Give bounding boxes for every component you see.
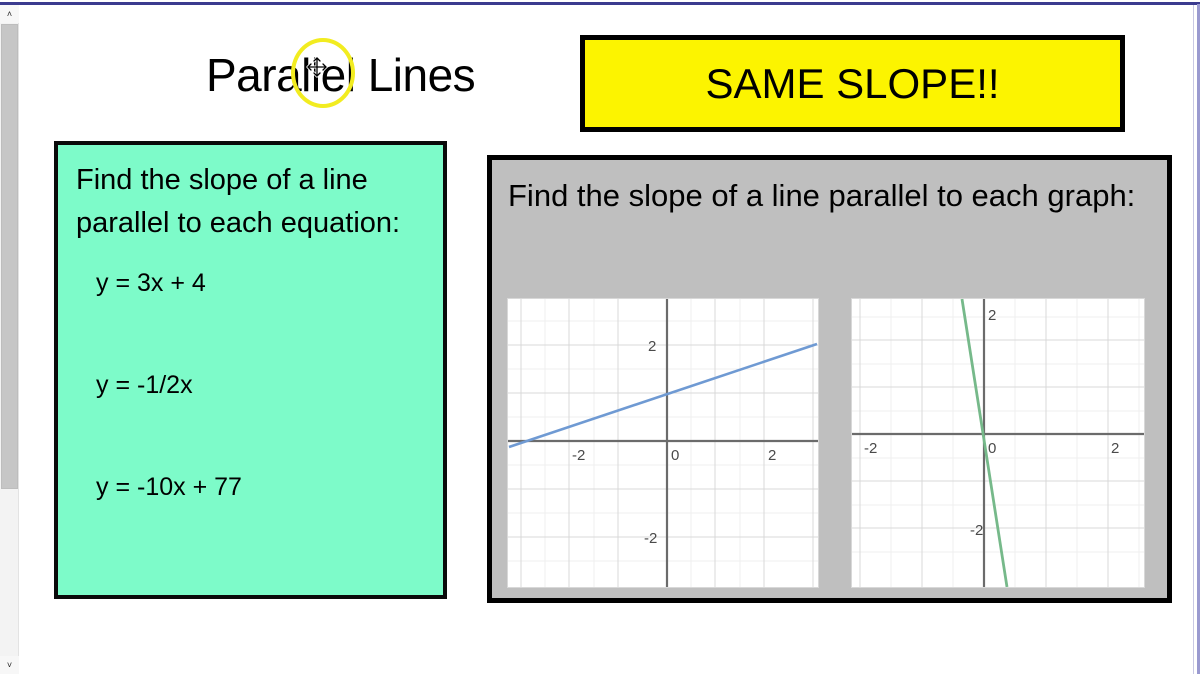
graphs-panel: Find the slope of a line parallel to eac… — [487, 155, 1172, 603]
equations-prompt: Find the slope of a line parallel to eac… — [76, 159, 425, 245]
ytick-2: 2 — [648, 338, 656, 355]
xtick-0: 0 — [671, 447, 679, 464]
graph-row: -2 0 2 2 -2 — [508, 299, 1144, 587]
equation-list: y = 3x + 4 y = -1/2x y = -10x + 77 — [76, 269, 425, 502]
graph-blue-line: -2 0 2 2 -2 — [508, 299, 818, 587]
graph-blue-svg: -2 0 2 2 -2 — [508, 299, 818, 587]
graphs-prompt: Find the slope of a line parallel to eac… — [508, 174, 1167, 218]
ytick-neg2: -2 — [644, 530, 657, 547]
scroll-up-arrow-icon[interactable]: ˄ — [0, 5, 19, 23]
graph-green-svg: -2 0 2 2 -2 — [852, 299, 1144, 587]
scroll-down-arrow-icon[interactable]: ˅ — [0, 656, 19, 674]
graph-green-line: -2 0 2 2 -2 — [852, 299, 1144, 587]
slide-viewer: ˄ ˅ Parallel Lines SAME SLOPE!! Find the… — [0, 0, 1200, 674]
window-top-border — [0, 2, 1200, 5]
scrollbar-thumb[interactable] — [1, 24, 18, 489]
equation-item: y = -1/2x — [96, 371, 425, 400]
equations-panel: Find the slope of a line parallel to eac… — [54, 141, 447, 599]
equation-item: y = 3x + 4 — [96, 269, 425, 298]
xtick-2: 2 — [768, 447, 776, 464]
xtick-neg2: -2 — [864, 440, 877, 457]
page-title: Parallel Lines — [206, 48, 475, 102]
ytick-2: 2 — [988, 307, 996, 324]
ytick-neg2: -2 — [970, 522, 983, 539]
window-right-border-inner — [1193, 5, 1194, 674]
xtick-0: 0 — [988, 440, 996, 457]
xtick-neg2: -2 — [572, 447, 585, 464]
callout-text: SAME SLOPE!! — [705, 60, 999, 108]
move-cursor-icon — [306, 56, 328, 78]
xtick-2: 2 — [1111, 440, 1119, 457]
equation-item: y = -10x + 77 — [96, 473, 425, 502]
vertical-scrollbar[interactable]: ˄ ˅ — [0, 5, 19, 674]
same-slope-callout: SAME SLOPE!! — [580, 35, 1125, 132]
